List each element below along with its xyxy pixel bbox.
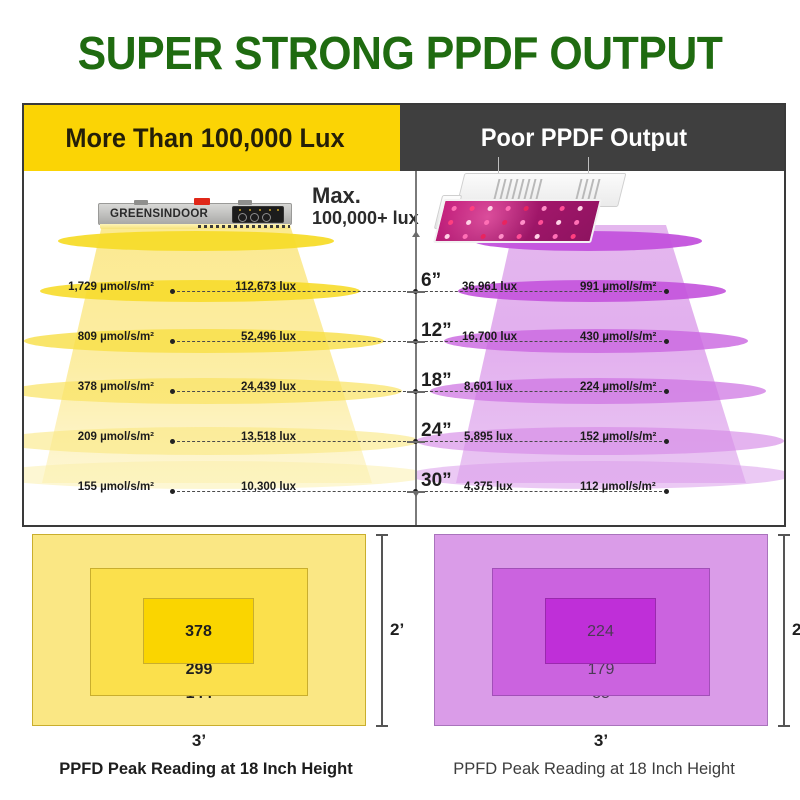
fixture-brand-label: GREENSINDOOR	[110, 208, 208, 220]
left-ppfd-5: 155 µmol/s/m²	[78, 481, 154, 493]
control-panel-icon	[232, 206, 284, 223]
right-ppfd-5: 112 µmol/s/m²	[580, 481, 656, 493]
header-right-banner: Poor PPDF Output	[400, 105, 784, 171]
footprint-left-width-label: 3’	[32, 731, 366, 751]
header-right-label: Poor PPDF Output	[400, 124, 687, 153]
right-ppfd-3: 224 µmol/s/m²	[580, 381, 656, 393]
distance-label-3: 18”	[421, 370, 452, 392]
left-ppfd-2: 809 µmol/s/m²	[78, 331, 154, 343]
right-lux-1: 36,961 lux	[462, 281, 517, 293]
footprint-right-height-label: 2’	[792, 620, 800, 640]
header-left-label: More Than 100,000 Lux	[24, 123, 345, 154]
left-lux-1: 112,673 lux	[235, 281, 296, 293]
right-lux-3: 8,601 lux	[464, 381, 513, 393]
footprint-right-inner-box: 224	[545, 598, 656, 664]
mount-tab-left-icon	[134, 200, 148, 205]
comparison-panel: More Than 100,000 Lux Poor PPDF Output	[22, 103, 786, 527]
left-ppfd-3: 378 µmol/s/m²	[78, 381, 154, 393]
mount-tab-right-icon	[238, 200, 252, 205]
footprint-right-width-label: 3’	[434, 731, 768, 751]
distance-label-5: 30”	[421, 470, 452, 492]
right-lux-4: 5,895 lux	[464, 431, 513, 443]
right-ppfd-4: 152 µmol/s/m²	[580, 431, 656, 443]
footprint-right-inner-value: 224	[546, 623, 655, 641]
infographic-root: SUPER STRONG PPDF OUTPUT More Than 100,0…	[0, 0, 800, 800]
yellow-beam	[24, 225, 416, 525]
power-button-icon	[194, 198, 210, 205]
footprint-left-inner-box: 378	[143, 598, 254, 664]
page-title: SUPER STRONG PPDF OUTPUT	[28, 26, 772, 80]
footprint-left-width-dimension: 3’	[32, 734, 366, 750]
distance-label-4: 24”	[421, 420, 452, 442]
left-ppfd-4: 209 µmol/s/m²	[78, 431, 154, 443]
footprint-left-height-label: 2’	[390, 620, 404, 640]
left-lux-2: 52,496 lux	[241, 331, 296, 343]
max-label-line2: 100,000+ lux	[312, 209, 419, 227]
footprint-right-width-dimension: 3’	[434, 734, 768, 750]
right-lux-5: 4,375 lux	[464, 481, 513, 493]
right-ppfd-1: 991 µmol/s/m²	[580, 281, 656, 293]
left-lux-4: 13,518 lux	[241, 431, 296, 443]
right-lux-2: 16,700 lux	[462, 331, 517, 343]
left-lux-3: 24,439 lux	[241, 381, 296, 393]
poor-panel-light	[438, 173, 618, 251]
beam-comparison-stage: GREENSINDOOR	[24, 171, 784, 525]
header-left-banner: More Than 100,000 Lux	[24, 105, 400, 171]
footprint-right-caption: PPFD Peak Reading at 18 Inch Height	[410, 760, 778, 779]
distance-label-1: 6”	[421, 270, 441, 292]
right-ppfd-2: 430 µmol/s/m²	[580, 331, 656, 343]
height-ruler-axis	[415, 171, 417, 525]
led-grid-icon	[433, 199, 602, 243]
greensindoor-bar-light: GREENSINDOOR	[98, 197, 292, 229]
footprint-left-inner-value: 378	[144, 623, 253, 641]
purple-beam	[416, 225, 784, 525]
footprint-left-caption: PPFD Peak Reading at 18 Inch Height	[22, 760, 390, 779]
distance-label-2: 12”	[421, 320, 452, 342]
left-ppfd-1: 1,729 µmol/s/m²	[68, 281, 154, 293]
max-label-line1: Max.	[312, 185, 419, 207]
left-lux-5: 10,300 lux	[241, 481, 296, 493]
led-array-face	[433, 199, 602, 243]
max-lux-label: Max. 100,000+ lux	[312, 185, 419, 227]
led-dot-row-icon	[198, 225, 290, 228]
